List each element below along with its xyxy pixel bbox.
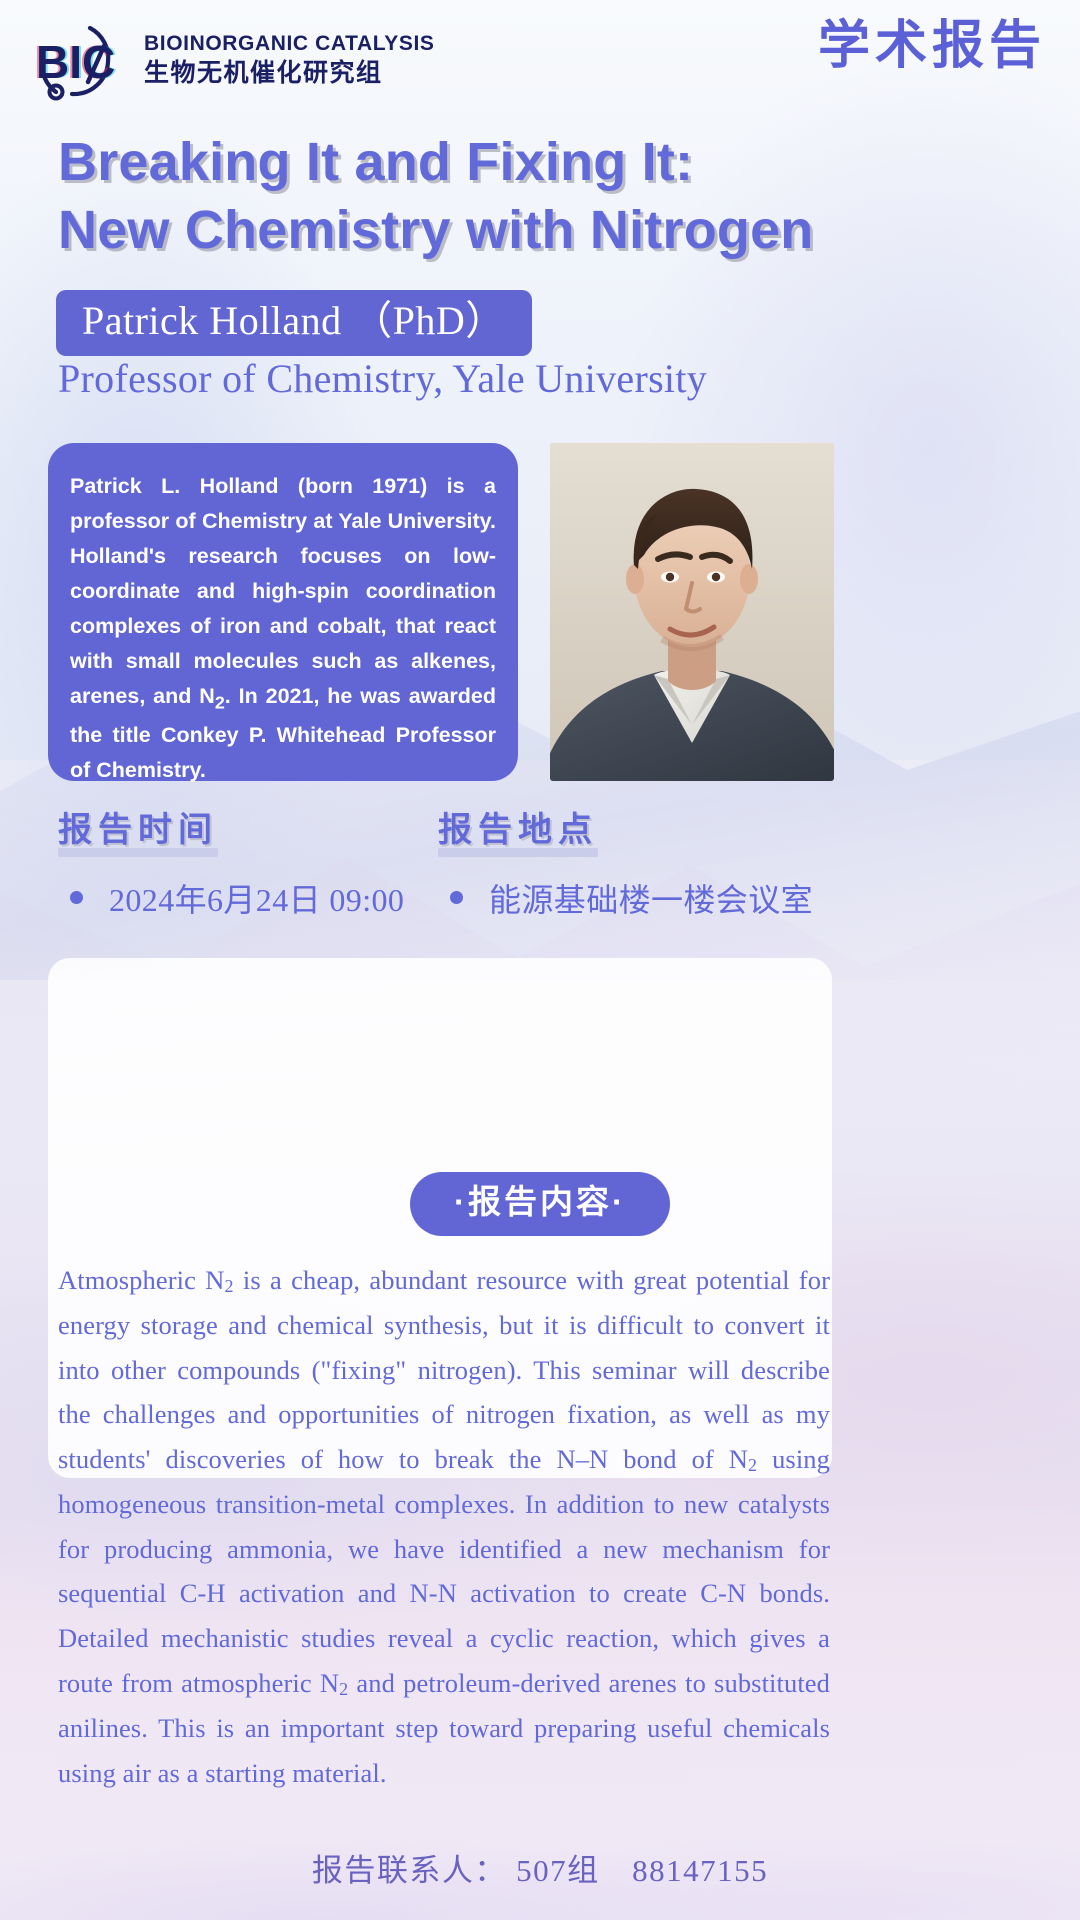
event-place-heading-text: 报告地点 <box>438 811 598 849</box>
speaker-name: Patrick Holland （PhD） <box>82 298 506 343</box>
talk-title-line-2: New Chemistry with Nitrogen <box>58 196 1018 264</box>
abstract-text: Atmospheric N2 is a cheap, abundant reso… <box>58 1258 830 1795</box>
speaker-bio-card: Patrick L. Holland (born 1971) is a prof… <box>48 443 518 781</box>
bullet-dot-icon <box>70 891 83 904</box>
bic-logo-icon: BIC BIC BIC <box>26 16 130 106</box>
event-place-heading-underline <box>438 848 598 857</box>
event-place-heading: 报告地点 <box>438 810 598 855</box>
brand-name-en: BIOINORGANIC CATALYSIS <box>144 32 435 55</box>
poster-root: BIC BIC BIC BIOINORGANIC CATALYSIS 生物无机催… <box>0 0 1080 1920</box>
abstract-section-title: ·报告内容· <box>454 1183 626 1220</box>
abstract-section-pill: ·报告内容· <box>410 1172 670 1236</box>
talk-title: Breaking It and Fixing It: New Chemistry… <box>58 128 1018 264</box>
svg-text:BIC: BIC <box>36 36 115 88</box>
event-place-row: 能源基础楼一楼会议室 <box>438 875 813 921</box>
event-place-value: 能源基础楼一楼会议室 <box>489 875 813 921</box>
event-time-column: 报告时间 2024年6月24日 09:00 <box>58 810 404 921</box>
header-category-badge: 学术报告 <box>818 20 1046 72</box>
event-time-heading-text: 报告时间 <box>58 811 218 849</box>
speaker-bio-body: (born 1971) is a professor of Chemistry … <box>70 474 496 782</box>
speaker-name-badge: Patrick Holland （PhD） <box>56 290 532 356</box>
event-time-row: 2024年6月24日 09:00 <box>58 875 404 921</box>
speaker-bio-text: Patrick L. Holland (born 1971) is a prof… <box>70 469 496 788</box>
event-time-heading-underline <box>58 848 218 857</box>
speaker-photo <box>550 443 834 781</box>
brand-logo: BIC BIC BIC BIOINORGANIC CATALYSIS 生物无机催… <box>26 16 435 106</box>
event-time-value: 2024年6月24日 09:00 <box>109 875 404 921</box>
speaker-affiliation: Professor of Chemistry, Yale University <box>58 355 707 402</box>
event-time-heading: 报告时间 <box>58 810 218 855</box>
event-place-column: 报告地点 能源基础楼一楼会议室 <box>438 810 813 921</box>
bullet-dot-icon <box>450 891 463 904</box>
talk-title-line-1: Breaking It and Fixing It: <box>58 128 1018 196</box>
event-meta: 报告时间 2024年6月24日 09:00 报告地点 能源基础楼一楼会议室 <box>0 810 1080 930</box>
poster-header: BIC BIC BIC BIOINORGANIC CATALYSIS 生物无机催… <box>0 0 1080 118</box>
brand-logo-text: BIOINORGANIC CATALYSIS 生物无机催化研究组 <box>144 32 435 89</box>
contact-footer: 报告联系人： 507组 88147155 <box>0 1845 1080 1890</box>
speaker-bio-name: Patrick L. Holland <box>70 474 279 498</box>
brand-name-cn: 生物无机催化研究组 <box>144 58 435 89</box>
